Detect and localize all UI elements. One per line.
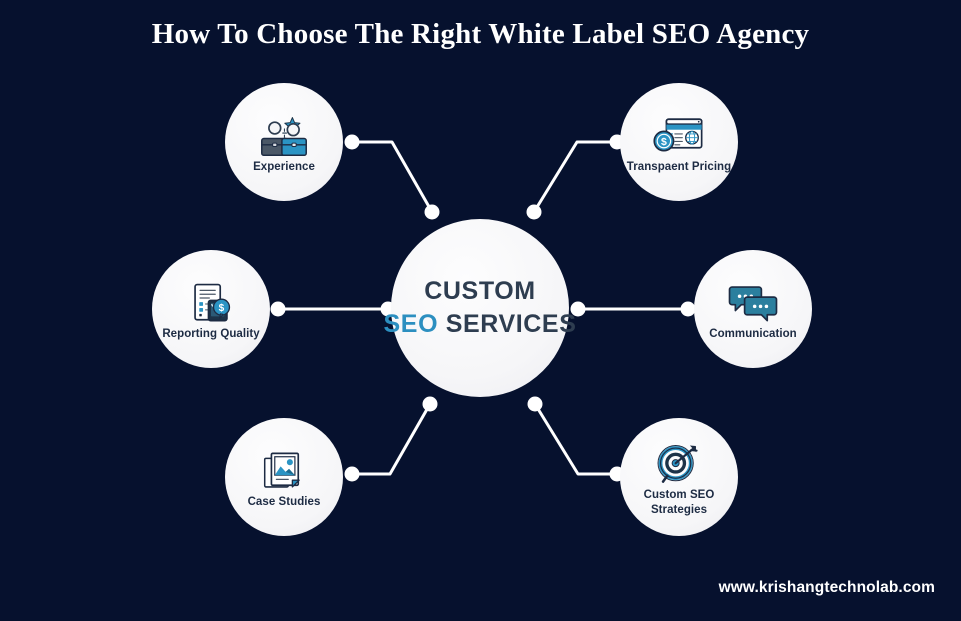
hub-word-services-text: SERVICES bbox=[446, 310, 577, 338]
connector-dot bbox=[345, 467, 360, 482]
hub-accent-seo: SEO bbox=[384, 310, 439, 338]
connector-custom-seo-strategies bbox=[535, 404, 617, 474]
hub-word-services bbox=[438, 310, 446, 338]
connector-case-studies bbox=[352, 404, 430, 474]
node-label: Experience bbox=[253, 160, 315, 174]
node-label: Transpaent Pricing bbox=[627, 160, 731, 174]
node-label: Communication bbox=[709, 327, 797, 341]
connector-dot bbox=[425, 205, 440, 220]
node-label: Custom SEO Strategies bbox=[644, 488, 715, 517]
infographic-canvas: How To Choose The Right White Label SEO … bbox=[0, 0, 961, 621]
speech-bubbles-icon bbox=[727, 282, 779, 324]
center-hub: CUSTOM SEO SERVICES bbox=[391, 219, 569, 397]
footer-website-url: www.krishangtechnolab.com bbox=[719, 579, 935, 597]
target-arrow-icon bbox=[653, 443, 705, 485]
stacked-photos-icon bbox=[258, 450, 310, 492]
connector-transparent-pricing bbox=[534, 142, 617, 212]
hub-line-custom: CUSTOM bbox=[424, 275, 535, 309]
connector-dot bbox=[345, 135, 360, 150]
connector-experience bbox=[352, 142, 432, 212]
node-transparent-pricing[interactable]: $ Transpaent Pricing bbox=[620, 83, 738, 201]
invoice-dollar-coin-icon: $ bbox=[653, 115, 705, 157]
node-communication[interactable]: Communication bbox=[694, 250, 812, 368]
people-briefcase-star-icon bbox=[258, 115, 310, 157]
node-reporting-quality[interactable]: $ Reporting Quality bbox=[152, 250, 270, 368]
node-case-studies[interactable]: Case Studies bbox=[225, 418, 343, 536]
hub-line-seo-services: SEO SERVICES bbox=[384, 308, 577, 342]
node-custom-seo-strategies[interactable]: Custom SEO Strategies bbox=[620, 418, 738, 536]
connector-dot bbox=[423, 397, 438, 412]
node-label: Reporting Quality bbox=[162, 327, 259, 341]
svg-text:$: $ bbox=[219, 303, 225, 314]
connector-dot bbox=[527, 205, 542, 220]
svg-text:$: $ bbox=[661, 138, 667, 149]
node-experience[interactable]: Experience bbox=[225, 83, 343, 201]
connector-dot bbox=[271, 302, 286, 317]
node-label: Case Studies bbox=[248, 495, 321, 509]
report-document-dollar-icon: $ bbox=[185, 282, 237, 324]
connector-dot bbox=[528, 397, 543, 412]
